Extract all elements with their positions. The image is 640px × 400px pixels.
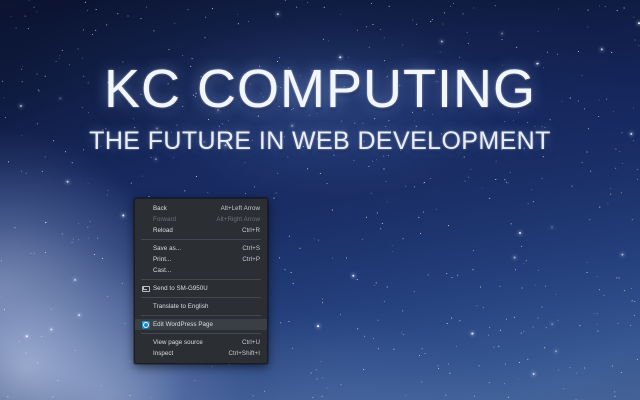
menu-item-back[interactable]: BackAlt+Left Arrow (135, 203, 267, 214)
menu-section: Edit WordPress Page (135, 318, 267, 331)
menu-section: Translate to English (135, 300, 267, 313)
menu-section: Save as...Ctrl+SPrint...Ctrl+PCast... (135, 242, 267, 277)
menu-item-label: Forward (153, 216, 208, 223)
menu-item-edit-wordpress-page[interactable]: Edit WordPress Page (135, 319, 267, 330)
wordpress-icon (141, 320, 150, 329)
menu-item-shortcut: Alt+Left Arrow (221, 205, 260, 212)
menu-item-label: Cast... (153, 267, 260, 274)
menu-item-print[interactable]: Print...Ctrl+P (135, 254, 267, 265)
menu-item-label: Translate to English (153, 303, 260, 310)
menu-item-shortcut: Ctrl+U (242, 339, 260, 346)
menu-item-label: Reload (153, 227, 234, 234)
menu-section: View page sourceCtrl+UInspectCtrl+Shift+… (135, 336, 267, 360)
menu-section: Send to SM-G950U (135, 282, 267, 295)
desktop-wallpaper: KC COMPUTING THE FUTURE IN WEB DEVELOPME… (0, 0, 640, 400)
menu-item-shortcut: Ctrl+P (242, 256, 260, 263)
menu-item-label: Print... (153, 256, 234, 263)
menu-separator (141, 279, 261, 280)
menu-separator (141, 333, 261, 334)
menu-item-shortcut: Ctrl+R (242, 227, 260, 234)
cast-icon (141, 284, 150, 293)
menu-separator (141, 315, 261, 316)
menu-item-send-to-sm-g950u[interactable]: Send to SM-G950U (135, 283, 267, 294)
hero-banner: KC COMPUTING THE FUTURE IN WEB DEVELOPME… (0, 62, 640, 156)
menu-item-label: Inspect (153, 350, 220, 357)
menu-item-forward: ForwardAlt+Right Arrow (135, 214, 267, 225)
menu-item-shortcut: Ctrl+S (242, 245, 260, 252)
menu-item-label: Send to SM-G950U (153, 285, 260, 292)
menu-item-label: Save as... (153, 245, 234, 252)
browser-context-menu[interactable]: BackAlt+Left ArrowForwardAlt+Right Arrow… (134, 198, 268, 364)
menu-item-shortcut: Alt+Right Arrow (216, 216, 260, 223)
page-title: KC COMPUTING (0, 62, 640, 117)
menu-item-reload[interactable]: ReloadCtrl+R (135, 225, 267, 236)
menu-item-shortcut: Ctrl+Shift+I (228, 350, 260, 357)
menu-section: BackAlt+Left ArrowForwardAlt+Right Arrow… (135, 202, 267, 237)
menu-separator (141, 297, 261, 298)
menu-item-label: View page source (153, 339, 234, 346)
menu-item-cast[interactable]: Cast... (135, 265, 267, 276)
menu-item-view-page-source[interactable]: View page sourceCtrl+U (135, 337, 267, 348)
menu-separator (141, 239, 261, 240)
menu-item-label: Back (153, 205, 213, 212)
menu-item-translate-to-english[interactable]: Translate to English (135, 301, 267, 312)
menu-item-label: Edit WordPress Page (153, 321, 260, 328)
menu-item-inspect[interactable]: InspectCtrl+Shift+I (135, 348, 267, 359)
page-tagline: THE FUTURE IN WEB DEVELOPMENT (0, 127, 640, 156)
menu-item-save-as[interactable]: Save as...Ctrl+S (135, 243, 267, 254)
